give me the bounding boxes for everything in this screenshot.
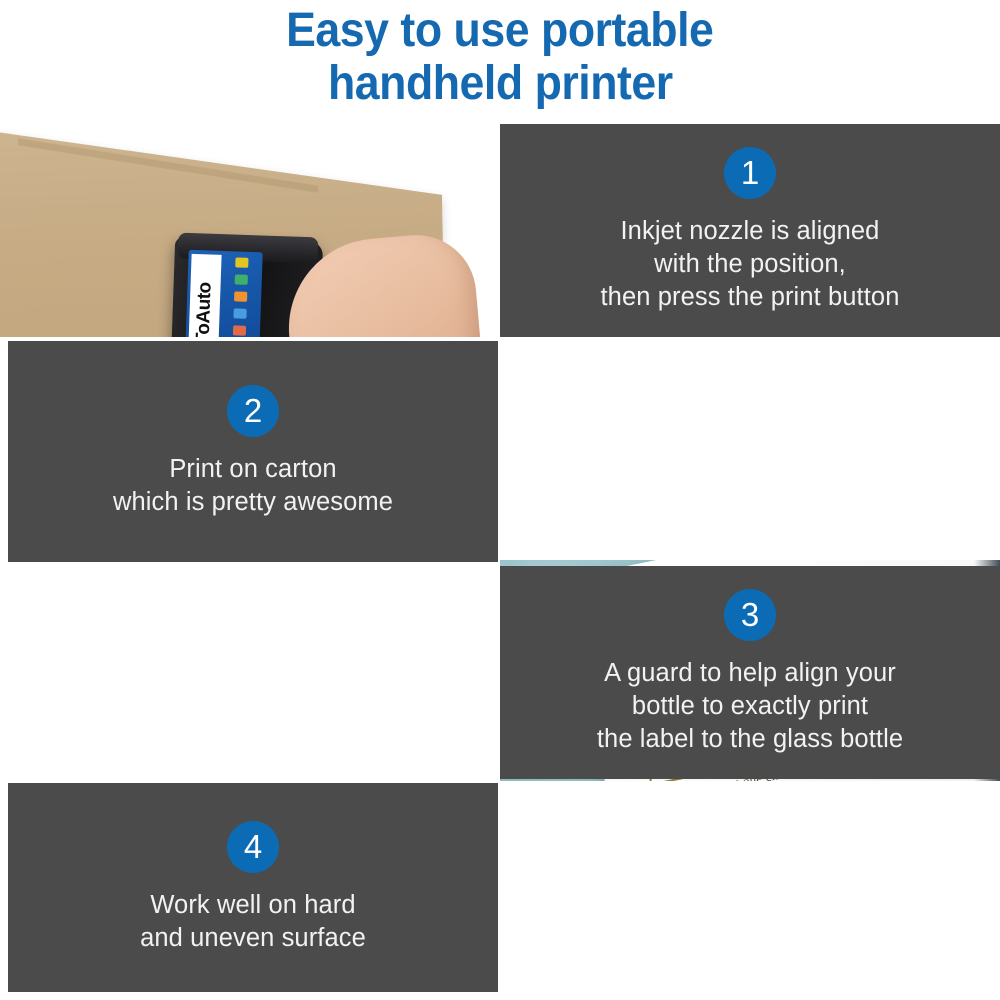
step-2-line-2: which is pretty awesome bbox=[113, 486, 393, 519]
infographic-page: Easy to use portable handheld printer To… bbox=[0, 0, 1000, 1000]
step-number-badge-2: 2 bbox=[227, 385, 279, 437]
page-title-line-1: Easy to use portable bbox=[286, 4, 713, 57]
photo-printer-on-carton: ToAuto ToAuto bbox=[0, 118, 498, 337]
step-3-line-2: bottle to exactly print bbox=[597, 690, 903, 723]
lcd-icon-column bbox=[219, 257, 260, 337]
step-text-4: Work well on hard and uneven surface bbox=[128, 889, 378, 955]
step-1-line-2: with the position, bbox=[601, 248, 900, 281]
lcd-brand-text: ToAuto bbox=[191, 250, 218, 337]
step-number-badge-1: 1 bbox=[724, 147, 776, 199]
step-text-2: Print on carton which is pretty awesome bbox=[101, 453, 405, 519]
step-text-1: Inkjet nozzle is aligned with the positi… bbox=[589, 215, 912, 314]
step-number-badge-3: 3 bbox=[724, 589, 776, 641]
lcd-icon-4 bbox=[233, 308, 246, 318]
page-title-line-2: handheld printer bbox=[328, 57, 673, 110]
printer-lcd-screen: ToAuto bbox=[183, 250, 262, 337]
step-panel-4: 4 Work well on hard and uneven surface bbox=[8, 783, 498, 992]
step-panel-1: 1 Inkjet nozzle is aligned with the posi… bbox=[500, 124, 1000, 337]
lcd-icon-2 bbox=[234, 274, 247, 284]
step-2-line-1: Print on carton bbox=[113, 453, 393, 486]
step-panel-2: 2 Print on carton which is pretty awesom… bbox=[8, 341, 498, 562]
step-3-line-1: A guard to help align your bbox=[597, 657, 903, 690]
lcd-icon-5 bbox=[232, 325, 245, 335]
step-4-line-2: and uneven surface bbox=[140, 922, 366, 955]
page-header: Easy to use portable handheld printer bbox=[0, 0, 1000, 118]
step-1-line-3: then press the print button bbox=[601, 281, 900, 314]
step-1-line-1: Inkjet nozzle is aligned bbox=[601, 215, 900, 248]
step-4-line-1: Work well on hard bbox=[140, 889, 366, 922]
step-text-3: A guard to help align your bottle to exa… bbox=[585, 657, 915, 756]
lcd-icon-1 bbox=[235, 257, 248, 267]
step-panel-3: 3 A guard to help align your bottle to e… bbox=[500, 566, 1000, 779]
lcd-icon-3 bbox=[234, 291, 247, 301]
step-3-line-3: the label to the glass bottle bbox=[597, 723, 903, 756]
step-number-badge-4: 4 bbox=[227, 821, 279, 873]
